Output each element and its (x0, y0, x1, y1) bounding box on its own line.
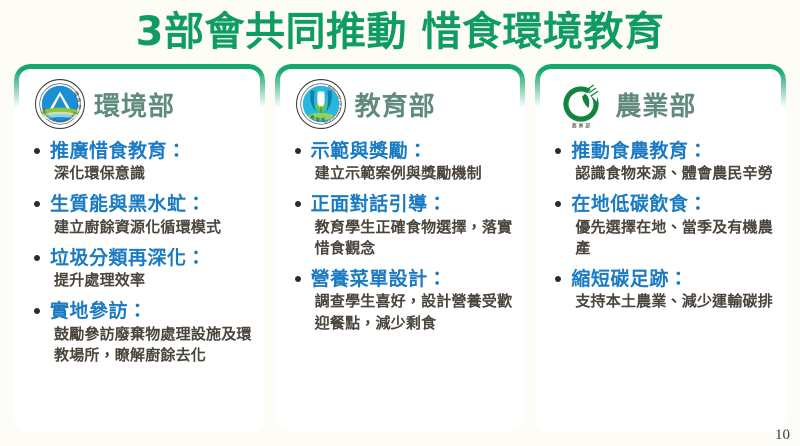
list-item: 縮短碳足跡： 支持本土農業、減少運輸碳排 (555, 268, 774, 312)
list-item: 推廣惜食教育： 深化環保意識 (34, 140, 253, 184)
bullet-dot-icon (555, 276, 561, 282)
bullet-dot-icon (555, 201, 561, 207)
page-title: 3部會共同推動 惜食環境教育 (0, 0, 800, 52)
bullet-description: 建立廚餘資源化循環模式 (50, 217, 253, 238)
bullet-description: 調查學生喜好，設計營養受歡迎餐點，減少剩食 (311, 291, 514, 334)
bullet-heading: 推廣惜食教育： (50, 140, 253, 163)
ministry-card-education[interactable]: MINISTRY OF EDUCATION 教 育 部 教育部 示範與獎勵： 建… (275, 64, 526, 432)
svg-text:農 業 部: 農 業 部 (572, 121, 591, 129)
bullet-dot-icon (34, 255, 40, 261)
bullet-description: 鼓勵參訪廢棄物處理設施及環教場所，瞭解廚餘去化 (50, 324, 253, 367)
bullet-heading: 在地低碳飲食： (571, 193, 774, 216)
bullet-dot-icon (34, 148, 40, 154)
bullet-description: 深化環保意識 (50, 163, 253, 184)
bullet-heading: 推動食農教育： (571, 140, 774, 163)
bullet-heading: 生質能與黑水虻： (50, 193, 253, 216)
bullet-heading: 縮短碳足跡： (571, 268, 774, 291)
list-item: 實地參訪： 鼓勵參訪廢棄物處理設施及環教場所，瞭解廚餘去化 (34, 300, 253, 366)
bullet-heading: 正面對話引導： (311, 193, 514, 216)
bullet-list: 推廣惜食教育： 深化環保意識 生質能與黑水虻： 建立廚餘資源化循環模式 垃圾分類… (20, 140, 255, 366)
bullet-description: 教育學生正確食物選擇，落實惜食觀念 (311, 217, 514, 260)
bullet-dot-icon (295, 201, 301, 207)
ministry-name-label: 農業部 (615, 86, 696, 123)
list-item: 示範與獎勵： 建立示範案例與獎勵機制 (295, 140, 514, 184)
ministry-card-environment[interactable]: 環 境 部 Ministry of Environment 環境部 推廣惜食教育… (14, 64, 265, 432)
bullet-description: 認識食物來源、體會農民辛勞 (571, 163, 774, 184)
ministry-of-agriculture-logo-icon: 農 業 部 (555, 78, 607, 130)
list-item: 垃圾分類再深化： 提升處理效率 (34, 247, 253, 291)
slide-root: { "slide": { "title": "3部會共同推動 惜食環境教育", … (0, 0, 800, 446)
bullet-description: 建立示範案例與獎勵機制 (311, 163, 514, 184)
bullet-dot-icon (555, 148, 561, 154)
bullet-list: 示範與獎勵： 建立示範案例與獎勵機制 正面對話引導： 教育學生正確食物選擇，落實… (281, 140, 516, 334)
bullet-heading: 示範與獎勵： (311, 140, 514, 163)
list-item: 生質能與黑水虻： 建立廚餘資源化循環模式 (34, 193, 253, 237)
bullet-heading: 垃圾分類再深化： (50, 247, 253, 270)
bullet-list: 推動食農教育： 認識食物來源、體會農民辛勞 在地低碳飲食： 優先選擇在地、當季及… (541, 140, 776, 313)
bullet-dot-icon (295, 148, 301, 154)
list-item: 推動食農教育： 認識食物來源、體會農民辛勞 (555, 140, 774, 184)
bullet-dot-icon (34, 201, 40, 207)
list-item: 營養菜單設計： 調查學生喜好，設計營養受歡迎餐點，減少剩食 (295, 268, 514, 334)
bullet-heading: 實地參訪： (50, 300, 253, 323)
ministry-card-agriculture[interactable]: 農 業 部 農業部 推動食農教育： 認識食物來源、體會農民辛勞 在地低碳飲食： … (535, 64, 786, 432)
page-number: 10 (775, 427, 790, 444)
ministry-columns: 環 境 部 Ministry of Environment 環境部 推廣惜食教育… (0, 52, 800, 432)
bullet-description: 提升處理效率 (50, 270, 253, 291)
bullet-heading: 營養菜單設計： (311, 268, 514, 291)
card-header: 環 境 部 Ministry of Environment 環境部 (20, 72, 255, 136)
card-header: 農 業 部 農業部 (541, 72, 776, 136)
ministry-of-environment-logo-icon: 環 境 部 Ministry of Environment (34, 78, 86, 130)
ministry-name-label: 環境部 (94, 86, 175, 123)
bullet-dot-icon (34, 308, 40, 314)
ministry-of-education-logo-icon: MINISTRY OF EDUCATION 教 育 部 (295, 78, 347, 130)
bullet-description: 支持本土農業、減少運輸碳排 (571, 291, 774, 312)
bullet-description: 優先選擇在地、當季及有機農產 (571, 217, 774, 260)
ministry-name-label: 教育部 (355, 86, 436, 123)
list-item: 正面對話引導： 教育學生正確食物選擇，落實惜食觀念 (295, 193, 514, 259)
list-item: 在地低碳飲食： 優先選擇在地、當季及有機農產 (555, 193, 774, 259)
bullet-dot-icon (295, 276, 301, 282)
card-header: MINISTRY OF EDUCATION 教 育 部 教育部 (281, 72, 516, 136)
